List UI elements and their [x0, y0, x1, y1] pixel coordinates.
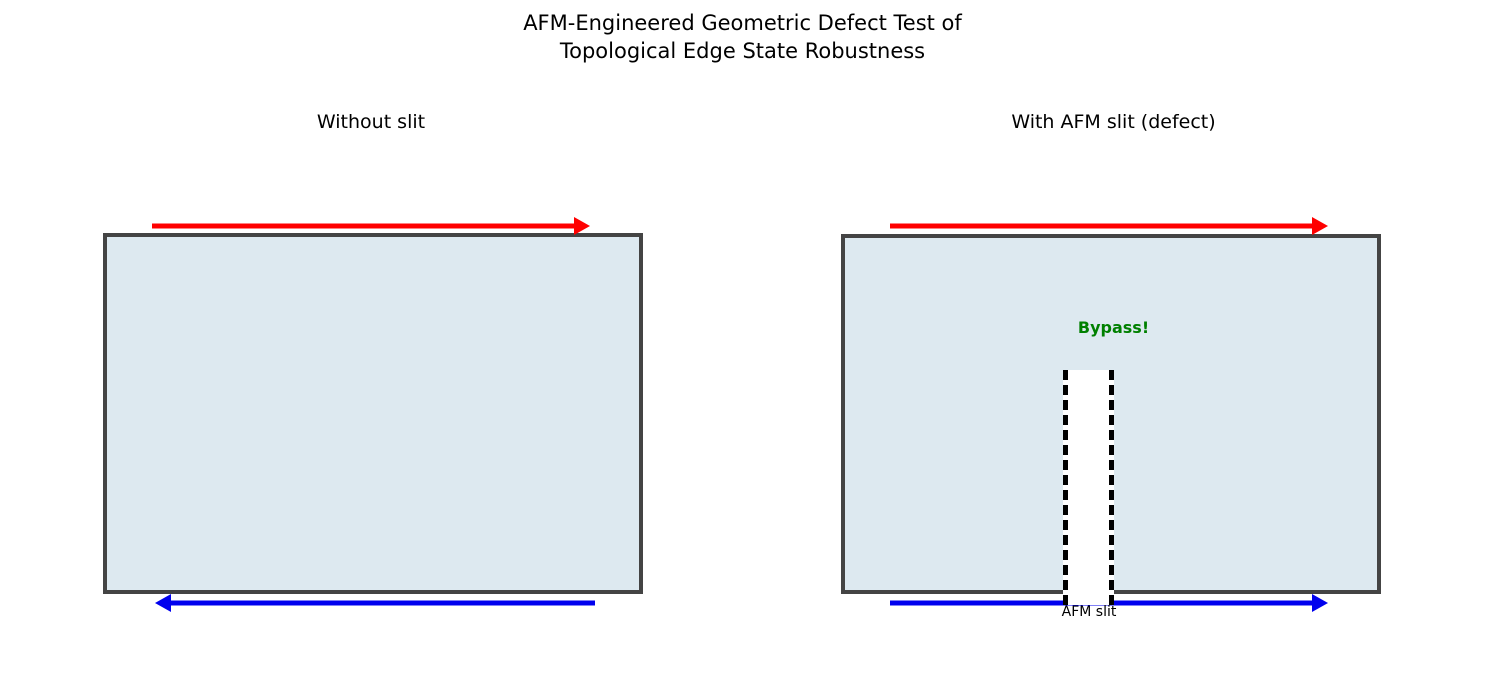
arrow-head-right-icon — [1312, 594, 1328, 612]
figure-canvas: AFM-Engineered Geometric Defect Test of … — [0, 0, 1485, 698]
arrow-shaft — [171, 601, 595, 606]
panel-title-with-slit: With AFM slit (defect) — [742, 111, 1485, 133]
arrow-head-left-icon — [155, 594, 171, 612]
bypass-annotation: Bypass! — [742, 318, 1485, 337]
arrow-head-right-icon — [1312, 217, 1328, 235]
panel-without-slit: Without slit — [0, 0, 742, 698]
arrow-shaft — [890, 224, 1312, 229]
afm-slit-defect — [1063, 370, 1114, 605]
graphene-slab-without-slit — [103, 233, 643, 594]
arrow-shaft — [152, 224, 574, 229]
afm-slit-caption: AFM slit — [989, 604, 1189, 620]
slit-wall-right — [1109, 370, 1114, 605]
arrow-head-right-icon — [574, 217, 590, 235]
panel-with-slit: With AFM slit (defect) Bypass! AFM slit — [742, 0, 1485, 698]
slit-wall-left — [1063, 370, 1068, 605]
panel-title-without-slit: Without slit — [0, 111, 742, 133]
